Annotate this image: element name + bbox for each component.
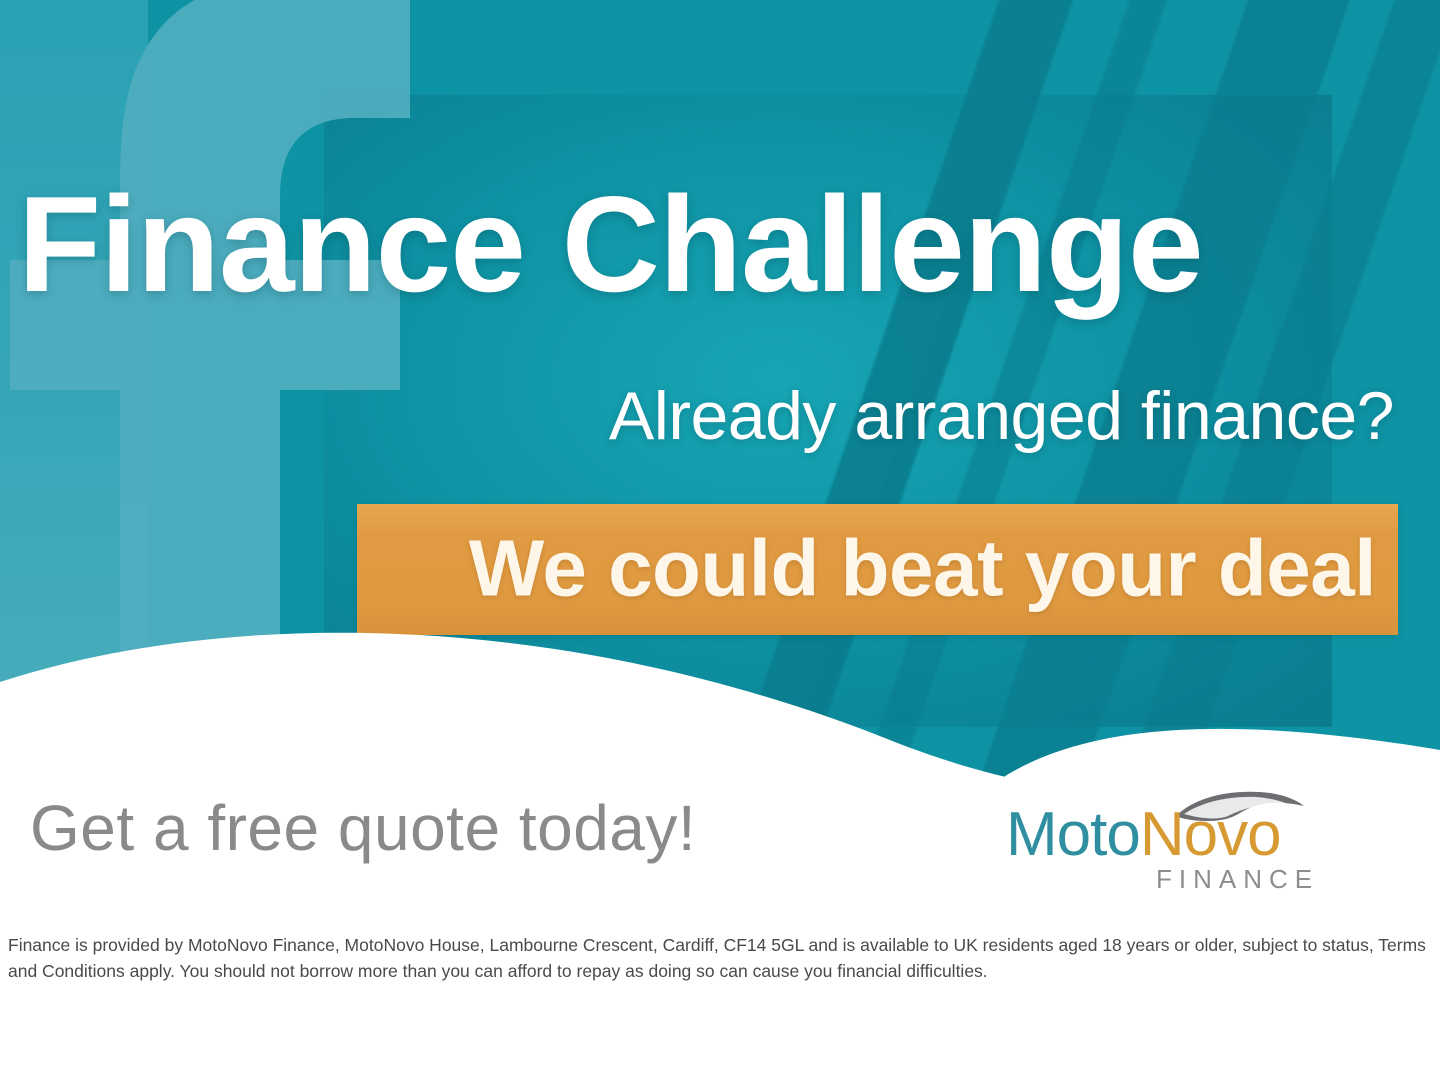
headline: Finance Challenge [18, 176, 1418, 312]
logo-wordmark: MotoNovo [1006, 804, 1281, 866]
logo-word-novo: Novo [1140, 800, 1281, 869]
tagline: Get a free quote today! [30, 796, 696, 860]
logo-word-moto: Moto [1006, 800, 1140, 869]
legal-small-print: Finance is provided by MotoNovo Finance,… [8, 932, 1426, 985]
callout-band: We could beat your deal [357, 504, 1398, 635]
logo-subtitle: FINANCE [1156, 866, 1319, 892]
callout-text: We could beat your deal [357, 528, 1376, 608]
motonovo-finance-logo: MotoNovo FINANCE [1006, 786, 1316, 904]
finance-challenge-banner: Finance Challenge Already arranged finan… [0, 0, 1440, 1080]
footer-panel: Get a free quote today! MotoNovo FINANCE… [0, 790, 1440, 1080]
subheadline: Already arranged finance? [609, 382, 1394, 450]
hero-panel: Finance Challenge Already arranged finan… [0, 0, 1440, 790]
